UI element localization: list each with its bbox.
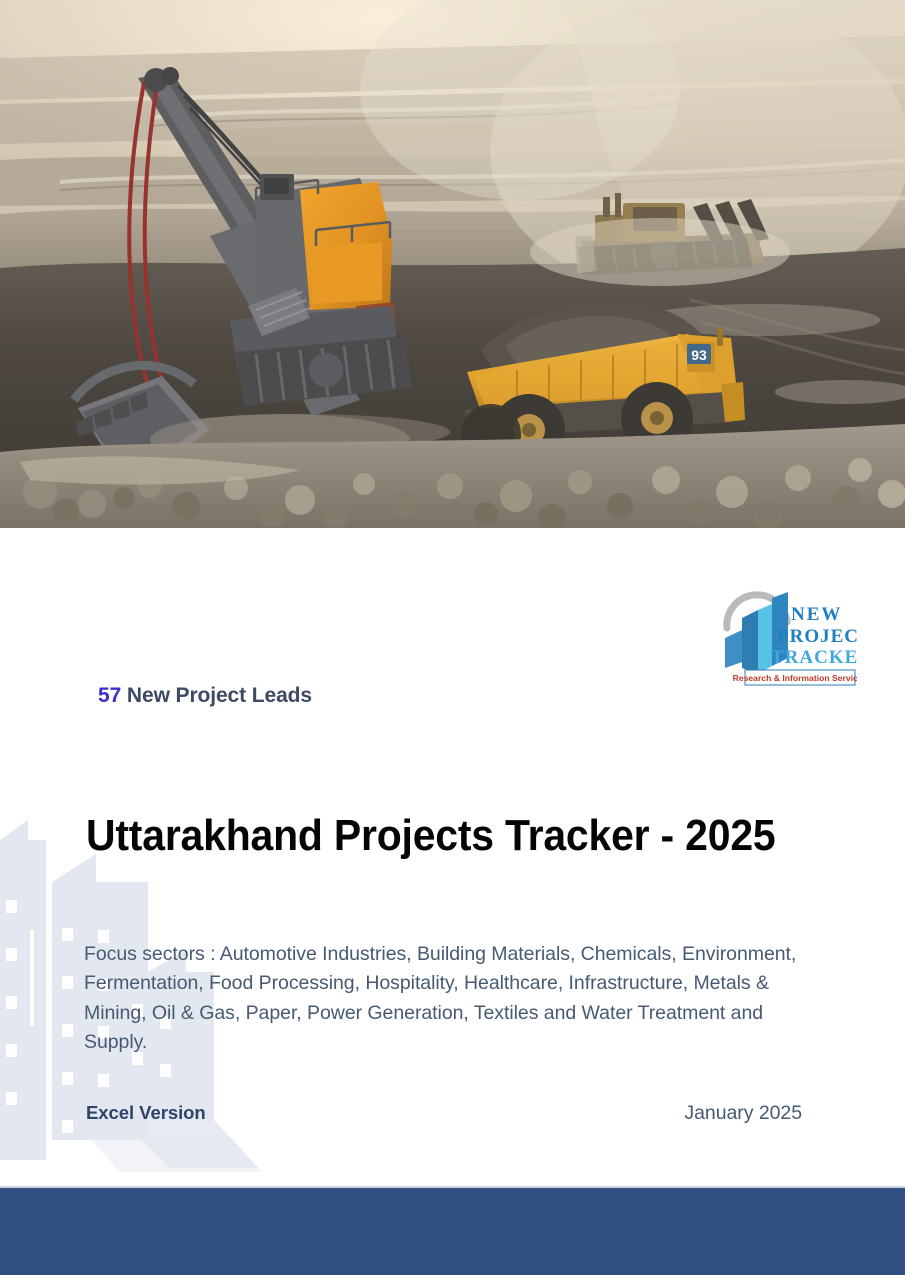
logo-line-2: PROJECTS (777, 626, 857, 647)
hero-mining-photo: 93 (0, 0, 905, 528)
bottom-color-bar (0, 1188, 905, 1275)
new-project-leads-line: 57 New Project Leads (98, 684, 312, 708)
logo-tagline: Research & Information Services (733, 673, 857, 683)
logo-line-1: NEW (791, 604, 842, 625)
leads-label: New Project Leads (127, 684, 312, 707)
edition-label: Excel Version (86, 1102, 206, 1124)
cover-content: NEW PROJECTS TRACKER Research & Informat… (0, 528, 905, 1188)
logo-line-3: TRACKER (771, 647, 857, 668)
publication-date: January 2025 (684, 1102, 802, 1125)
new-projects-tracker-logo: NEW PROJECTS TRACKER Research & Informat… (709, 570, 857, 692)
focus-sectors-text: Focus sectors : Automotive Industries, B… (84, 940, 800, 1058)
page-title: Uttarakhand Projects Tracker - 2025 (86, 810, 775, 862)
report-cover-page: 93 (0, 0, 905, 1275)
cover-footer-row: Excel Version January 2025 (86, 1102, 802, 1132)
leads-count: 57 (98, 684, 121, 707)
